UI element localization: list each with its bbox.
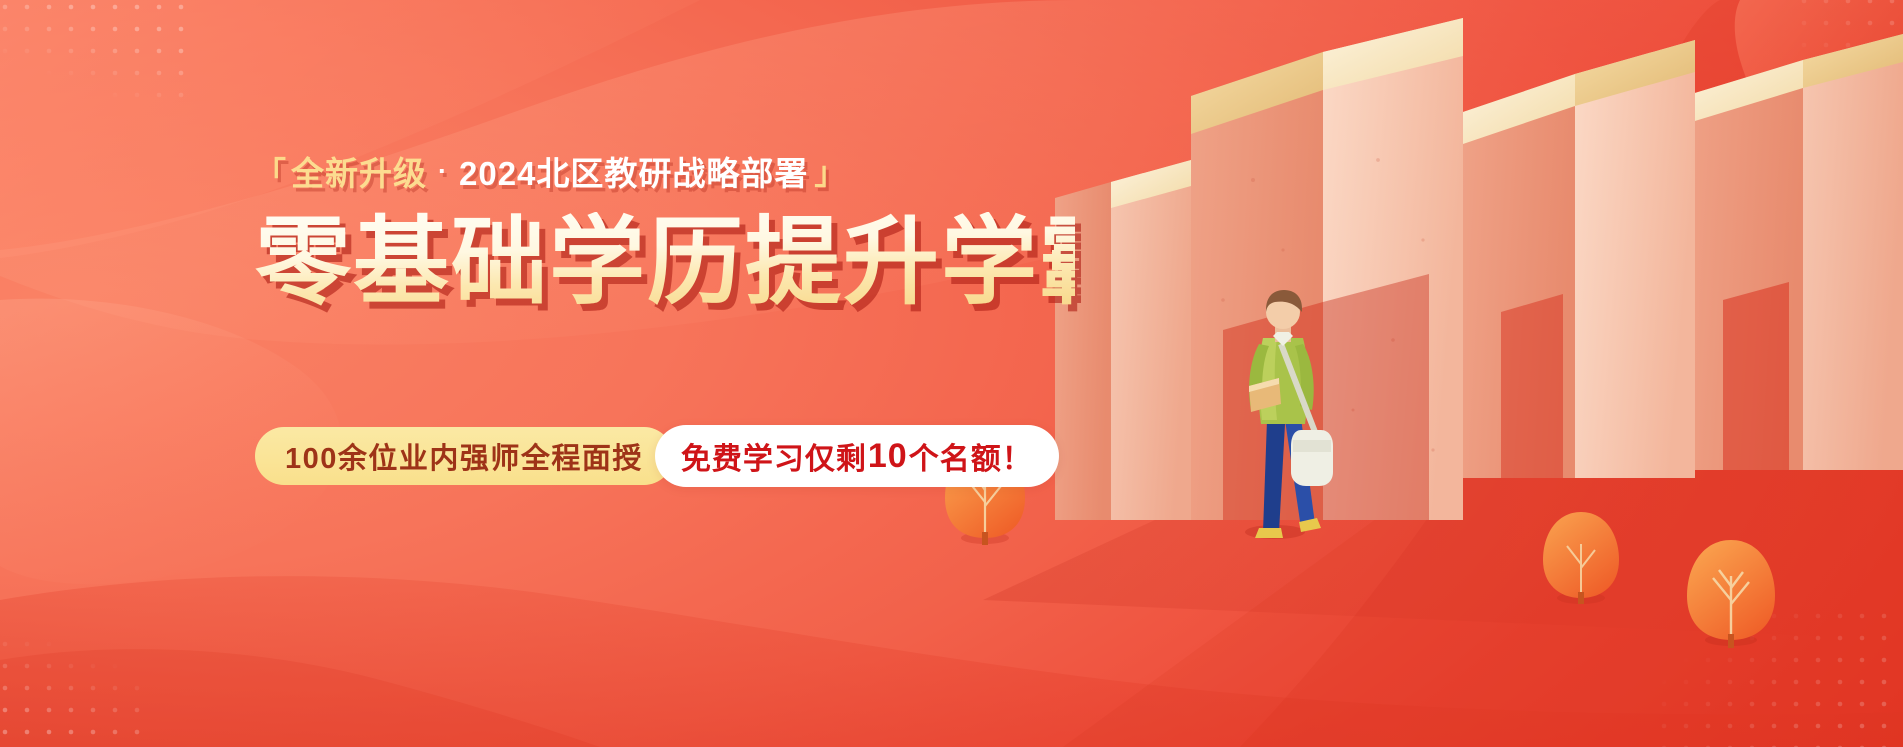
subtitle-line: 「 全新升级 · 2024北区教研战略部署 」 [255,150,1075,196]
dot-pattern-top-right [1793,0,1903,110]
page-title: 零基础学历提升学霸班 [255,212,1075,314]
bracket-close-icon: 」 [814,158,846,189]
dot-pattern-bottom-left [0,633,144,747]
teachers-badge: 100余位业内强师全程面授 [255,427,673,485]
subtitle-white-text: 2024北区教研战略部署 [459,157,808,190]
seats-badge-count: 10 [867,437,909,476]
dot-pattern-top-left [0,0,184,101]
dot-pattern-bottom-right [1653,605,1903,747]
seats-badge-exclamation: ！ [1002,434,1033,478]
subtitle-gold-text: 全新升级 [291,157,427,190]
headline-block: 「 全新升级 · 2024北区教研战略部署 」 零基础学历提升学霸班 [255,150,1075,314]
bracket-open-icon: 「 [255,158,287,189]
seats-badge-prefix: 免费学习仅剩 [681,434,867,478]
seats-badge-suffix: 个名额 [909,434,1002,478]
seats-remaining-badge[interactable]: 免费学习仅剩 10 个名额 ！ [655,425,1059,487]
subtitle-separator-icon: · [427,158,459,185]
teachers-badge-label: 100余位业内强师全程面授 [285,435,643,477]
background-wave-shapes [0,0,1903,747]
promo-banner: 「 全新升级 · 2024北区教研战略部署 」 零基础学历提升学霸班 100余位… [0,0,1903,747]
badge-row: 100余位业内强师全程面授 免费学习仅剩 10 个名额 ！ [255,425,1059,487]
